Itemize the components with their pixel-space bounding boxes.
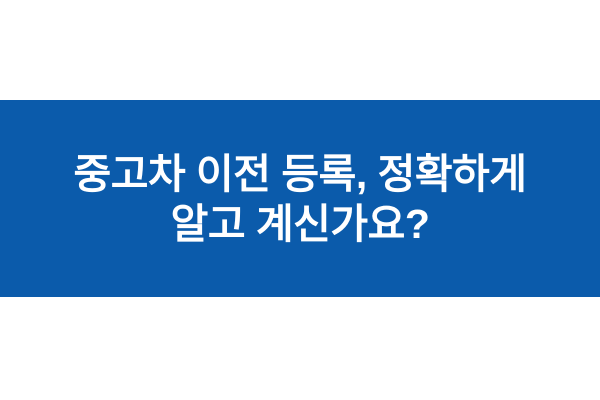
headline-line-1: 중고차 이전 등록, 정확하게 — [74, 149, 527, 199]
banner-blue-band: 중고차 이전 등록, 정확하게 알고 계신가요? — [0, 100, 600, 297]
banner-canvas: 중고차 이전 등록, 정확하게 알고 계신가요? — [0, 0, 600, 400]
headline-line-2: 알고 계신가요? — [74, 199, 527, 249]
headline-block: 중고차 이전 등록, 정확하게 알고 계신가요? — [74, 149, 527, 249]
